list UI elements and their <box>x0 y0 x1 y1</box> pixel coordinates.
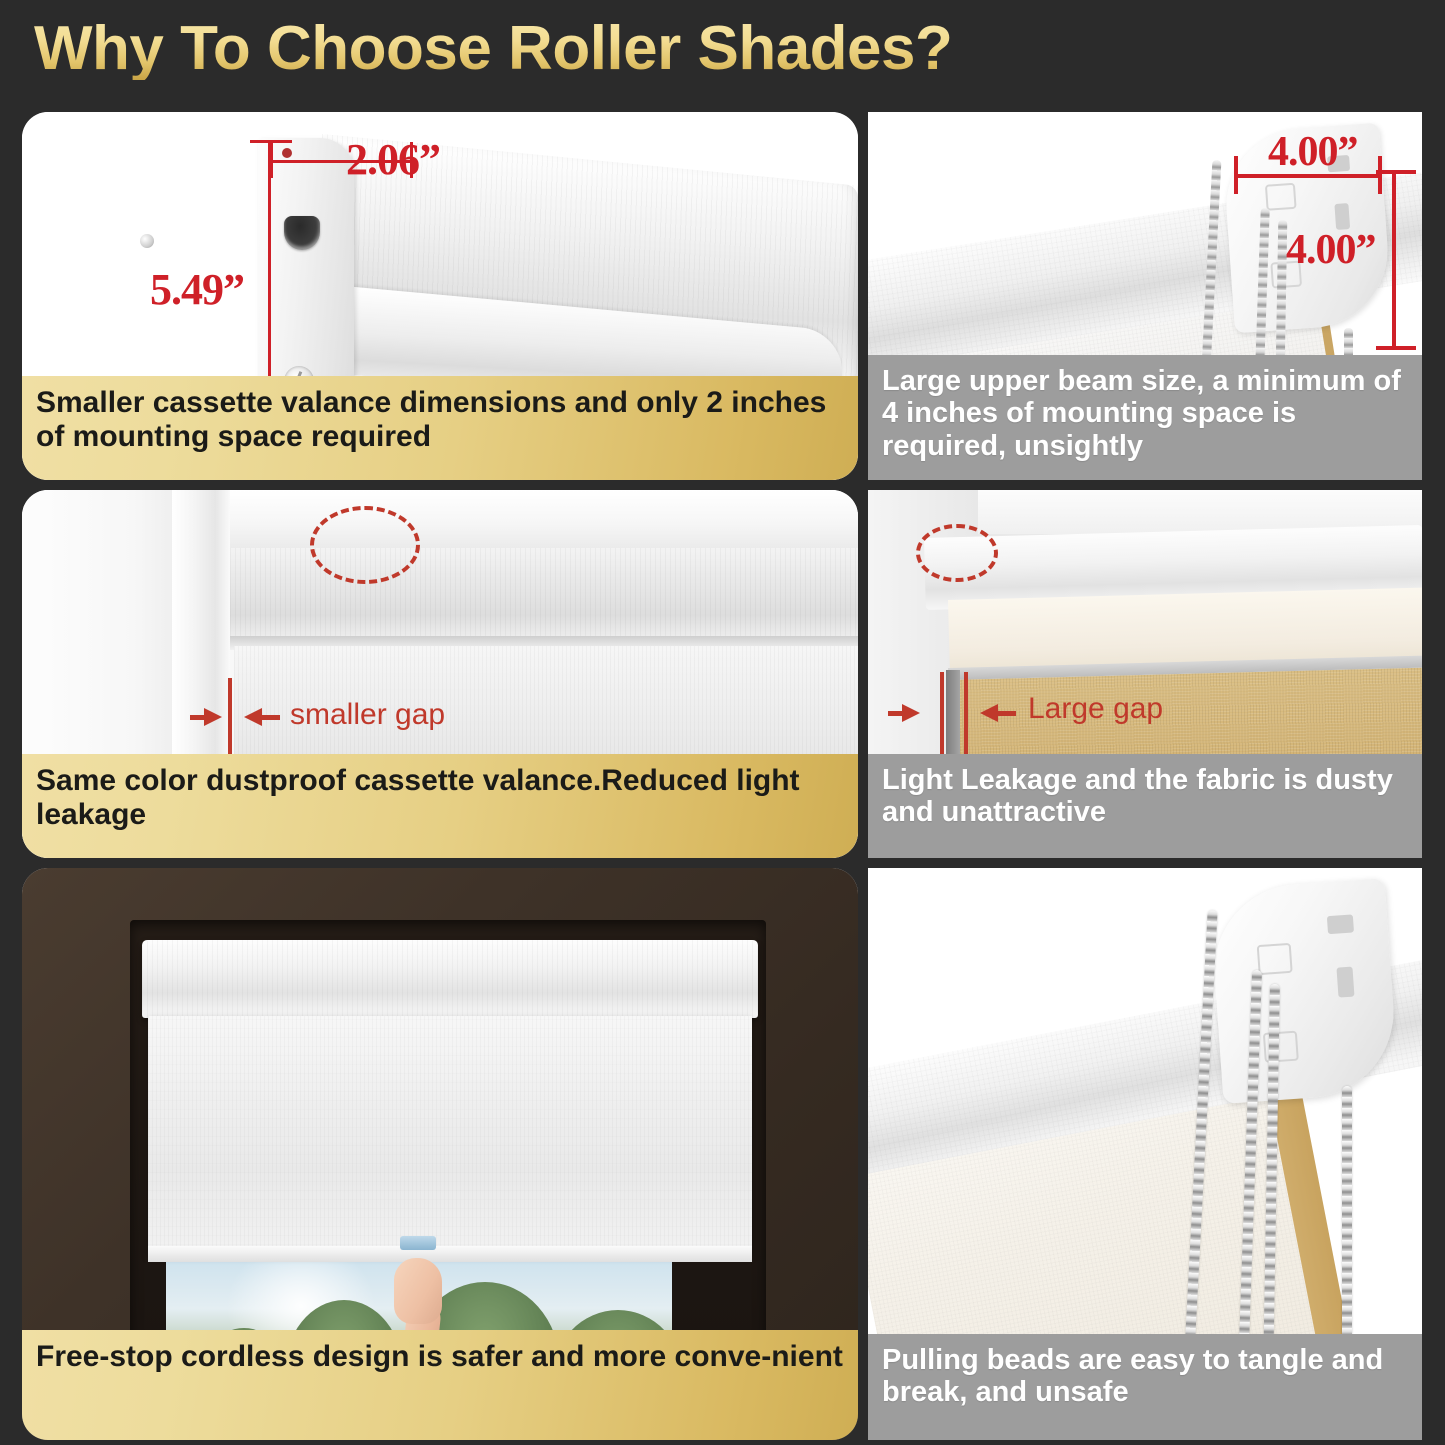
comparison-grid: 5.49” 2.06” Smaller cassette valance dim… <box>0 108 1445 1445</box>
beam-width-tick-right <box>1378 156 1382 194</box>
hand-fist <box>394 1258 442 1324</box>
page-title: Why To Choose Roller Shades? <box>34 18 952 80</box>
panel-smaller-gap: smaller gap Same color dustproof cassett… <box>22 490 858 858</box>
panel-caption: Pulling beads are easy to tangle and bre… <box>868 1334 1422 1440</box>
window-head-trim <box>172 490 858 552</box>
width-dimension-tick-left <box>270 142 273 178</box>
panel-caption: Large upper beam size, a minimum of 4 in… <box>868 355 1422 480</box>
room-shade-bottom-bar <box>148 1246 752 1262</box>
bracket-pin <box>140 234 154 248</box>
gap-label: smaller gap <box>290 698 445 732</box>
beam-height-tick-top <box>1376 170 1416 174</box>
cordless-pull-handle <box>400 1236 436 1250</box>
panel-caption: Free-stop cordless design is safer and m… <box>22 1330 858 1440</box>
panel-caption: Same color dustproof cassette valance.Re… <box>22 754 858 858</box>
beam-height-dimension-line <box>1392 170 1396 350</box>
beam-width-label: 4.00” <box>1268 128 1358 176</box>
cap-notch-top <box>1327 914 1354 934</box>
panel-large-gap: Large gap Light Leakage and the fabric i… <box>868 490 1422 858</box>
beam-width-tick-left <box>1234 156 1238 194</box>
cap-emblem-up <box>1265 183 1297 211</box>
highlight-circle-icon <box>916 524 998 582</box>
cap-emblem-up <box>1257 943 1293 975</box>
panel-large-beam: 4.00” 4.00” Large upper beam size, a min… <box>868 112 1422 480</box>
room-cassette-valance <box>142 940 758 1018</box>
cap-notch-mid <box>1336 967 1354 998</box>
panel-caption: Light Leakage and the fabric is dusty an… <box>868 754 1422 858</box>
panel-cordless: Free-stop cordless design is safer and m… <box>22 868 858 1440</box>
beam-height-tick-bottom <box>1376 346 1416 350</box>
highlight-circle-icon <box>310 506 420 584</box>
panel-caption: Smaller cassette valance dimensions and … <box>22 376 858 480</box>
bead-panel-end-cap <box>1209 878 1399 1104</box>
room-shade-fabric <box>148 1016 752 1254</box>
panel-cassette-dimensions: 5.49” 2.06” Smaller cassette valance dim… <box>22 112 858 480</box>
height-dimension-label: 5.49” <box>150 264 244 315</box>
gap-label: Large gap <box>1028 692 1163 726</box>
bracket-slot <box>284 216 320 250</box>
bracket-marker-dot <box>282 148 292 158</box>
beam-height-label: 4.00” <box>1286 226 1376 274</box>
width-dimension-label: 2.06” <box>346 134 440 185</box>
panel-pulling-beads: Pulling beads are easy to tangle and bre… <box>868 868 1422 1440</box>
